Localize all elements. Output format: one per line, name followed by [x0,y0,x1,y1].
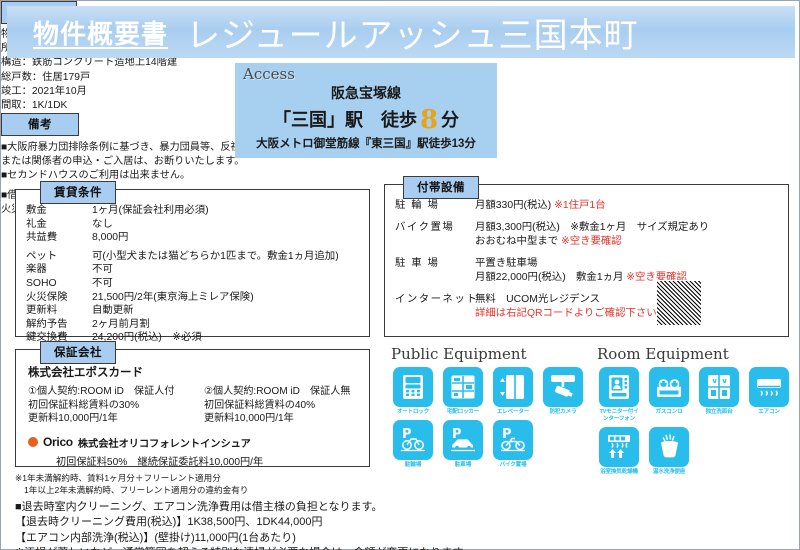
facility-row-internet: インターネット 無料 UCOM光レジデンス 詳細は右記QRコードよりご確認下さい… [395,293,788,321]
plan-line: 更新料10,000円/1年 [28,412,186,426]
rental-conditions-body: 敷金 1ヶ月(保証会社利用必須) 礼金 なし 共益費 8,000円 ペット 可(… [16,190,369,345]
equipment-item-gas-stove: ガスコンロ [647,367,691,423]
facility-key: バイク置場 [395,221,475,249]
facility-line: 月額3,300円(税込) ※敷金1ヶ月 サイズ規定あり [475,221,788,235]
equipment-item-car-parking: P 駐車場 [441,420,485,469]
facility-note: ※空き要確認 [561,236,622,247]
facility-line: 月額330円(税込) [475,200,551,211]
access-section: Access 阪急宝塚線 「三国」駅 徒歩8分 大阪メトロ御堂筋線『東三国』駅徒… [235,63,497,158]
rental-row: ペット 可(小型犬または猫どちらか1匹まで。敷金1ヵ月追加) [26,250,369,264]
elevator-icon [493,367,533,407]
rental-value: 1ヶ月(保証会社利用必須) [92,204,209,218]
facility-line-text: おおむね中型まで [475,236,558,247]
equipment-item-video-intercom: TVモニター付インターフォン [597,367,641,423]
equipment-label: バイク置場 [491,462,535,469]
facility-value: 月額330円(税込) ※1住戸1台 [475,199,788,213]
equipment-item-air-conditioner: エアコン [747,367,791,423]
footnote-cleaning-notice: ■退去時室内クリーニング、エアコン洗浄費用は借主様の負担となります。 [15,500,615,515]
facility-line: 無料 UCOM光レジデンス [475,293,788,307]
remarks-badge: 備考 [1,113,79,136]
footnote-special-cleaning: ※汚損が著しいなど、通常範囲を超える特別な清掃が必要な場合は、金額が変更になりま… [15,546,615,550]
footnote-cleaning-fee: 【退去時クリーニング費用(税込)】1K38,500円、1DK44,000円 [15,515,615,530]
rental-key: 敷金 [26,204,92,218]
public-equipment-section: Public Equipment オートロック 宅配ロッカー エレベーター [391,345,591,469]
rental-key: 礼金 [26,218,92,232]
access-minutes: 8 [417,105,441,135]
equipment-item-washlet: 温水洗浄便座 [647,427,691,476]
footnote-penalty-2: 1年以上2年未満解約時、フリーレント適用分の違約金有り [15,485,615,497]
orico-detail: 初回保証料50% 継続保証委託料10,000円/年 [28,453,369,468]
guarantee-plans: ①個人契約:ROOM iD 保証人付 初回保証料総賃料の30% 更新料10,00… [28,385,369,426]
public-equipment-title: Public Equipment [391,345,591,363]
equipment-label: エアコン [747,409,791,416]
rental-value: 不可 [92,263,113,277]
equipment-item-auto-lock: オートロック [391,367,435,416]
gas-stove-icon [649,367,689,407]
rental-key: 火災保険 [26,291,92,305]
rental-value: 8,000円 [92,231,128,245]
public-equipment-grid: オートロック 宅配ロッカー エレベーター 防犯カメラ [391,367,591,469]
access-label: Access [243,65,295,83]
qr-code-icon [656,280,702,326]
overview-line-units: 総戸数：住居179戸 [1,71,216,85]
equipment-label: エレベーター [491,409,535,416]
bath-dryer-icon [599,427,639,467]
car-parking-icon: P [443,420,483,460]
air-conditioner-icon [749,367,789,407]
access-station-suffix: 分 [441,110,459,130]
rental-row: 火災保険 21,500円/2年(東京海上ミレア保険) [26,291,369,305]
plan-line: ①個人契約:ROOM iD 保証人付 [28,385,186,399]
plan-line: ②個人契約:ROOM iD 保証人無 [204,385,362,399]
property-summary-document: 物件概要書 レジュールアッシュ三国本町 物件概要 物件名称：レジュールアッシュ三… [0,0,800,550]
facility-line2: おおむね中型まで ※空き要確認 [475,235,788,249]
guarantee-company-name: 株式会社エポスカード [28,364,369,380]
plan-line: 初回保証料総賃料の30% [28,399,186,413]
equipment-label: 駐車場 [441,462,485,469]
document-header-banner: 物件概要書 レジュールアッシュ三国本町 [7,6,795,58]
rental-value: 2ヶ月前月割 [92,318,150,332]
facility-value: 平置き駐車場 月額22,000円(税込) 敷金1ヵ月 ※空き要確認 [475,257,788,285]
security-camera-icon [543,367,583,407]
rental-key: 解約予告 [26,318,92,332]
motorcycle-parking-icon: P [493,420,533,460]
plan-line: 更新料10,000円/1年 [204,412,362,426]
rental-row: 楽器 不可 [26,263,369,277]
rental-key: 更新料 [26,304,92,318]
facility-row-car: 駐 車 場 平置き駐車場 月額22,000円(税込) 敷金1ヵ月 ※空き要確認 [395,257,788,285]
facility-key: 駐 輪 場 [395,199,475,213]
equipment-label: ガスコンロ [647,409,691,416]
guarantee-plan-b: ②個人契約:ROOM iD 保証人無 初回保証料総賃料の40% 更新料10,00… [204,385,362,426]
rental-row: 礼金 なし [26,218,369,232]
equipment-label: 宅配ロッカー [441,409,485,416]
facility-value: 無料 UCOM光レジデンス 詳細は右記QRコードよりご確認下さい。 [475,293,788,321]
rental-row: 解約予告 2ヶ月前月割 [26,318,369,332]
delivery-locker-icon [443,367,483,407]
equipment-item-delivery-locker: 宅配ロッカー [441,367,485,416]
overview-line-layout: 間取：1K/1DK [1,99,216,113]
rental-value: 可(小型犬または猫どちらか1匹まで。敷金1ヵ月追加) [92,250,339,264]
bicycle-parking-icon: P [393,420,433,460]
plan-line: 初回保証料総賃料の40% [204,399,362,413]
equipment-label: TVモニター付インターフォン [597,409,641,423]
auto-lock-icon [393,367,433,407]
rental-value: なし [92,218,113,232]
access-railway-line: 阪急宝塚線 [235,83,497,103]
guarantee-body: 株式会社エポスカード ①個人契約:ROOM iD 保証人付 初回保証料総賃料の3… [16,350,369,468]
facility-note: ※1住戸1台 [554,200,605,211]
equipment-label: 防犯カメラ [541,409,585,416]
equipment-label: 温水洗浄便座 [647,469,691,476]
document-type-label: 物件概要書 [33,14,168,51]
washstand-icon [699,367,739,407]
rental-key: ペット [26,250,92,264]
rental-conditions-section: 賃貸条件 敷金 1ヶ月(保証会社利用必須) 礼金 なし 共益費 8,000円 ペ… [15,189,370,337]
rental-key: 楽器 [26,263,92,277]
rental-value: 不可 [92,277,113,291]
room-equipment-title: Room Equipment [597,345,797,363]
rental-conditions-badge: 賃貸条件 [40,181,116,204]
facilities-badge: 付帯設備 [403,176,479,199]
rental-key: SOHO [26,277,92,291]
video-intercom-icon [599,367,639,407]
footnote-penalty-1: ※1年未満解約時、賃料1ヶ月分＋フリーレント適用分 [15,473,615,485]
room-equipment-grid: TVモニター付インターフォン ガスコンロ 独立洗面台 エアコン [597,367,797,476]
overview-line-structure: 構造：鉄筋コンクリート造地上14階建 [1,56,216,70]
orico-brand: Orico [43,435,73,449]
access-station-prefix: 「三国」駅 徒歩 [273,110,417,130]
facility-line: 平置き駐車場 [475,257,788,271]
rental-row: 共益費 8,000円 [26,231,369,245]
rental-row: 敷金 1ヶ月(保証会社利用必須) [26,204,369,218]
svg-text:P: P [502,427,512,442]
facilities-body: 駐 輪 場 月額330円(税込) ※1住戸1台 バイク置場 月額3,300円(税… [385,185,788,321]
rental-key: 共益費 [26,231,92,245]
equipment-item-motorcycle-parking: P バイク置場 [491,420,535,469]
guarantee-company-section: 保証会社 株式会社エポスカード ①個人契約:ROOM iD 保証人付 初回保証料… [15,349,370,467]
footnotes-section: ※1年未満解約時、賃料1ヶ月分＋フリーレント適用分 1年以上2年未満解約時、フリ… [15,473,615,550]
orico-logo-row: Orico 株式会社オリコフォレントインシュア [28,435,369,450]
rental-row: SOHO 不可 [26,277,369,291]
equipment-label: 独立洗面台 [697,409,741,416]
facility-note: 詳細は右記QRコードよりご確認下さい。 [475,307,788,321]
facility-line2: 月額22,000円(税込) 敷金1ヵ月 ※空き要確認 [475,271,788,285]
access-metro-line: 大阪メトロ御堂筋線『東三国』駅徒歩13分 [235,135,497,151]
orico-company-name: 株式会社オリコフォレントインシュア [78,435,251,450]
facility-line-text: 月額22,000円(税込) 敷金1ヵ月 [475,272,623,283]
room-equipment-section: Room Equipment TVモニター付インターフォン ガスコンロ 独立洗面… [597,345,797,476]
equipment-item-bicycle-parking: P 駐輪場 [391,420,435,469]
washlet-icon [649,427,689,467]
facility-row-bicycle: 駐 輪 場 月額330円(税込) ※1住戸1台 [395,199,788,213]
facility-row-motorcycle: バイク置場 月額3,300円(税込) ※敷金1ヶ月 サイズ規定あり おおむね中型… [395,221,788,249]
equipment-item-elevator: エレベーター [491,367,535,416]
facility-value: 月額3,300円(税込) ※敷金1ヶ月 サイズ規定あり おおむね中型まで ※空き… [475,221,788,249]
facilities-section: 付帯設備 駐 輪 場 月額330円(税込) ※1住戸1台 バイク置場 月額3,3… [384,184,789,337]
equipment-label: オートロック [391,409,435,416]
rental-row: 更新料 自動更新 [26,304,369,318]
equipment-item-washstand: 独立洗面台 [697,367,741,423]
footnote-ac-cleaning-fee: 【エアコン内部洗浄(税込)】(壁掛け)11,000円(1台あたり) [15,531,615,546]
page-title: レジュールアッシュ三国本町 [186,8,639,57]
guarantee-badge: 保証会社 [40,341,116,364]
rental-value: 21,500円/2年(東京海上ミレア保険) [92,291,254,305]
equipment-label: 駐輪場 [391,462,435,469]
access-walk-time: 「三国」駅 徒歩8分 [235,105,497,135]
equipment-item-security-camera: 防犯カメラ [541,367,585,416]
facility-key: インターネット [395,293,475,321]
guarantee-plan-a: ①個人契約:ROOM iD 保証人付 初回保証料総賃料の30% 更新料10,00… [28,385,186,426]
facility-key: 駐 車 場 [395,257,475,285]
overview-line-completion: 竣工：2021年10月 [1,85,216,99]
orico-dot-icon [28,437,38,447]
rental-value: 自動更新 [92,304,134,318]
equipment-item-bath-dryer: 浴室換気乾燥機 [597,427,641,476]
